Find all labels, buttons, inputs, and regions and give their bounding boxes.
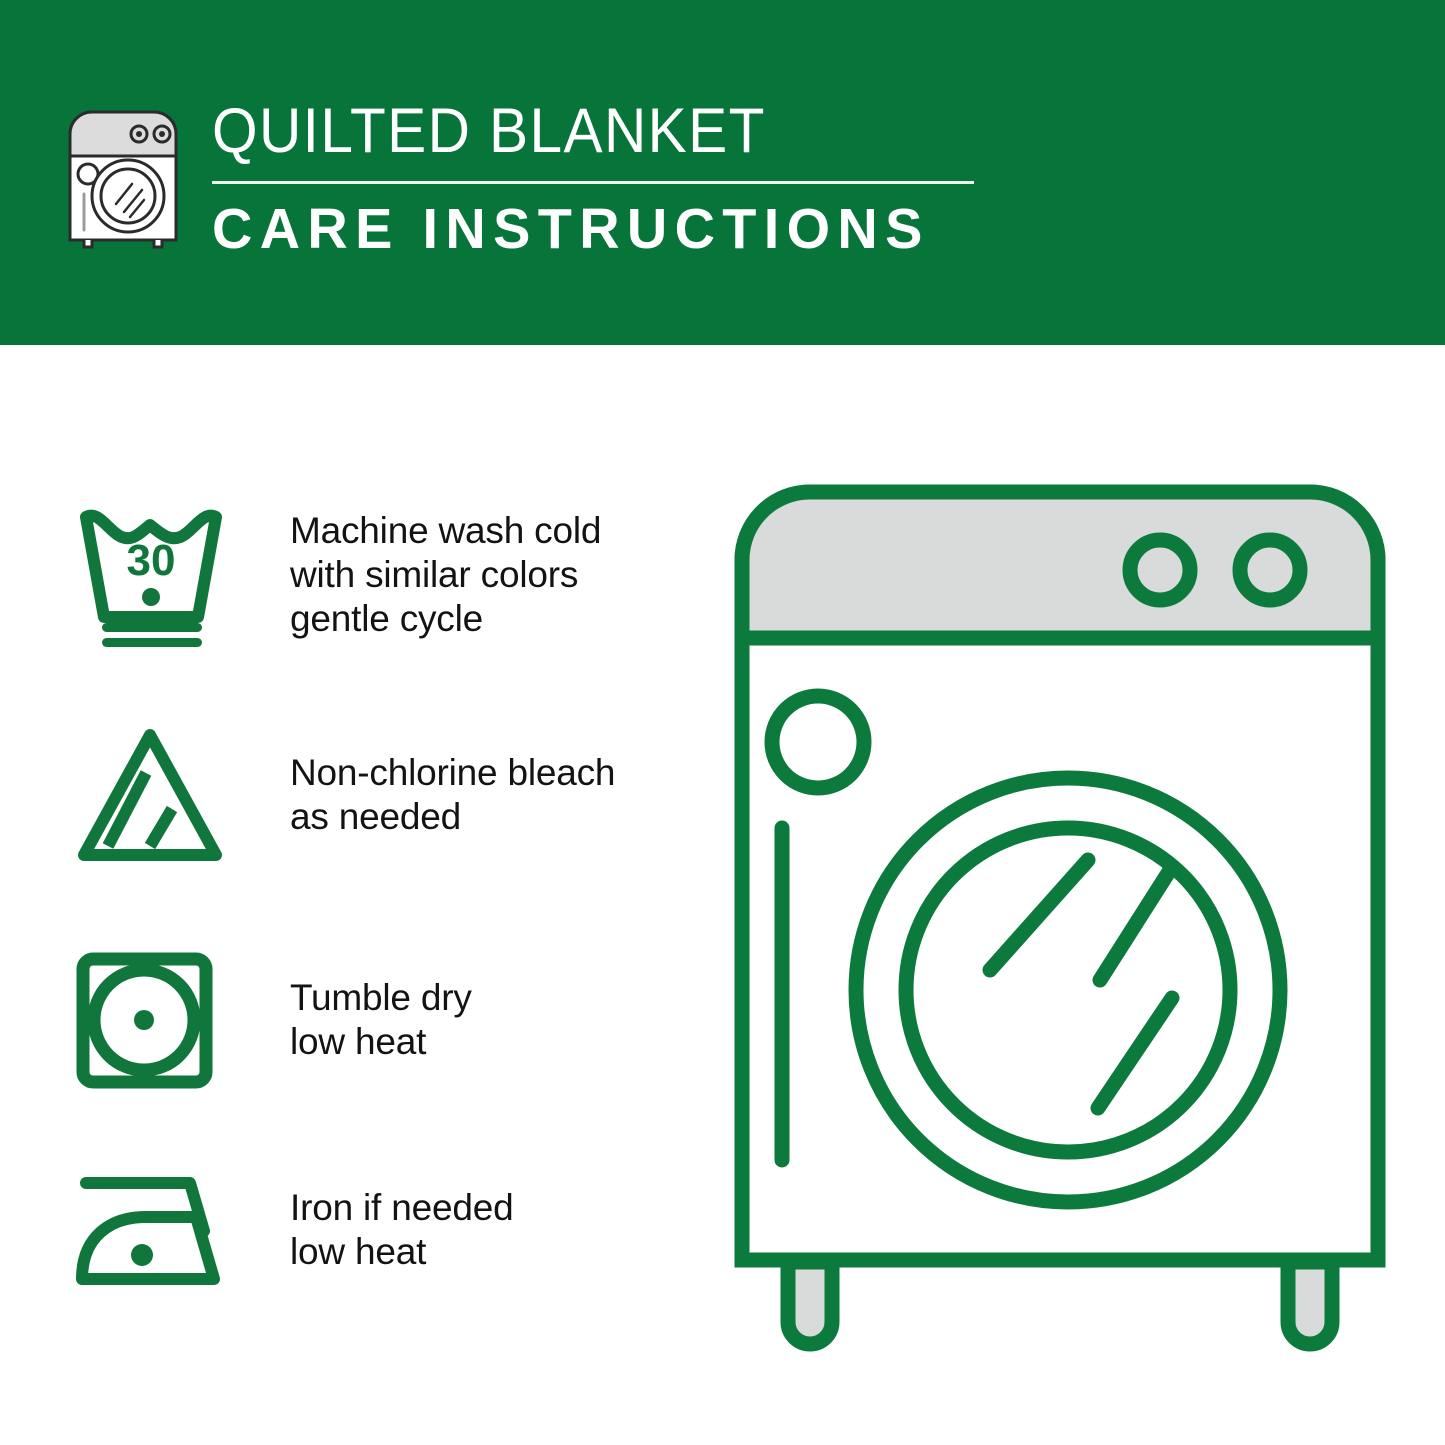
- care-label-wash: Machine wash cold with similar colors ge…: [290, 509, 601, 641]
- care-row-bleach: Non-chlorine bleach as needed: [72, 715, 615, 875]
- tumble-dry-icon: [72, 940, 290, 1100]
- title-divider: [212, 181, 974, 184]
- washing-machine-illustration: [720, 470, 1400, 1370]
- iron-icon: [72, 1150, 290, 1310]
- care-row-dry: Tumble dry low heat: [72, 940, 472, 1100]
- care-instructions-page: QUILTED BLANKET CARE INSTRUCTIONS 30: [0, 0, 1445, 1445]
- care-symbol-list: 30 Machine wash cold with similar colors…: [0, 345, 700, 1445]
- care-label-iron: Iron if needed low heat: [290, 1186, 513, 1274]
- wash-temperature-value: 30: [127, 536, 176, 585]
- care-label-bleach: Non-chlorine bleach as needed: [290, 751, 615, 839]
- leg-right: [1288, 1262, 1332, 1344]
- page-title: QUILTED BLANKET: [212, 100, 1142, 163]
- header-banner: QUILTED BLANKET CARE INSTRUCTIONS: [0, 0, 1445, 345]
- page-subtitle: CARE INSTRUCTIONS: [212, 201, 1192, 258]
- care-row-iron: Iron if needed low heat: [72, 1150, 513, 1310]
- dial-right-icon: [1240, 540, 1300, 600]
- indicator-circle-icon: [772, 696, 864, 788]
- bleach-triangle-icon: [72, 715, 290, 875]
- washing-machine-icon: [62, 104, 184, 250]
- header-text-block: QUILTED BLANKET CARE INSTRUCTIONS: [212, 100, 1212, 258]
- leg-left: [788, 1262, 832, 1344]
- dial-left-icon: [1130, 540, 1190, 600]
- wash-tub-30-icon: 30: [72, 495, 290, 655]
- care-label-dry: Tumble dry low heat: [290, 976, 472, 1064]
- care-row-wash: 30 Machine wash cold with similar colors…: [72, 495, 601, 655]
